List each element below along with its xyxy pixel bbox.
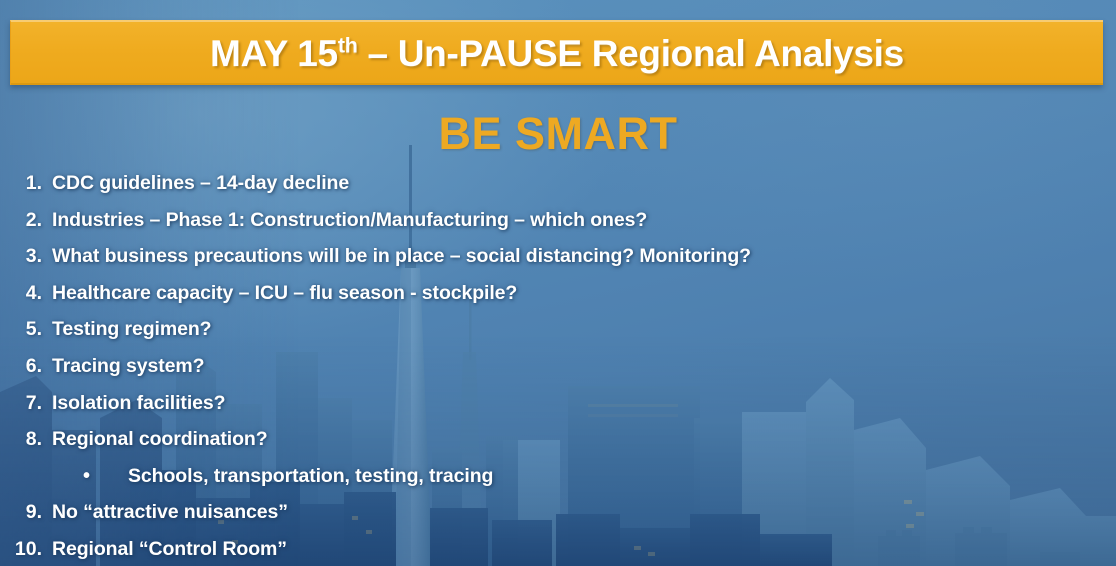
slide-title-bar: MAY 15th – Un-PAUSE Regional Analysis [10,20,1103,85]
list-item: 1.CDC guidelines – 14-day decline [0,172,1116,209]
list-item-number: 3. [0,245,52,268]
list-item-text: No “attractive nuisances” [52,501,288,524]
slide-title: MAY 15th – Un-PAUSE Regional Analysis [210,33,904,75]
list-item-text: Tracing system? [52,355,204,378]
list-item-text: Healthcare capacity – ICU – flu season -… [52,282,517,305]
slide-title-prefix: MAY 15 [210,33,338,74]
list-item-number: 8. [0,428,52,451]
list-item-text: Isolation facilities? [52,392,225,415]
list-item-text: Industries – Phase 1: Construction/Manuf… [52,209,647,232]
list-item-text: Schools, transportation, testing, tracin… [90,465,493,488]
list-item-text: CDC guidelines – 14-day decline [52,172,349,195]
bullet-marker: • [0,465,90,488]
list-item-number: 1. [0,172,52,195]
list-item-number: 5. [0,318,52,341]
list-item: 6.Tracing system? [0,355,1116,392]
list-item-text: Regional coordination? [52,428,268,451]
list-item-number: 2. [0,209,52,232]
list-item: 2.Industries – Phase 1: Construction/Man… [0,209,1116,246]
list-item-text: Testing regimen? [52,318,211,341]
list-item-number: 9. [0,501,52,524]
list-item: 5.Testing regimen? [0,318,1116,355]
list-item: 3.What business precautions will be in p… [0,245,1116,282]
list-sub-item: •Schools, transportation, testing, traci… [0,465,1116,502]
slide-subtitle: BE SMART [0,108,1116,160]
list-item: 8.Regional coordination? [0,428,1116,465]
list-item-number: 6. [0,355,52,378]
list-item-number: 7. [0,392,52,415]
slide-title-suffix: – Un-PAUSE Regional Analysis [358,33,904,74]
numbered-list: 1.CDC guidelines – 14-day decline2.Indus… [0,172,1116,566]
list-item: 10.Regional “Control Room” [0,538,1116,566]
list-item: 4.Healthcare capacity – ICU – flu season… [0,282,1116,319]
list-item-text: What business precautions will be in pla… [52,245,751,268]
list-item: 7.Isolation facilities? [0,392,1116,429]
list-item-number: 4. [0,282,52,305]
list-item-number: 10. [0,538,52,561]
list-item: 9.No “attractive nuisances” [0,501,1116,538]
list-item-text: Regional “Control Room” [52,538,287,561]
presentation-slide: MAY 15th – Un-PAUSE Regional Analysis BE… [0,0,1116,566]
slide-title-superscript: th [338,33,358,57]
